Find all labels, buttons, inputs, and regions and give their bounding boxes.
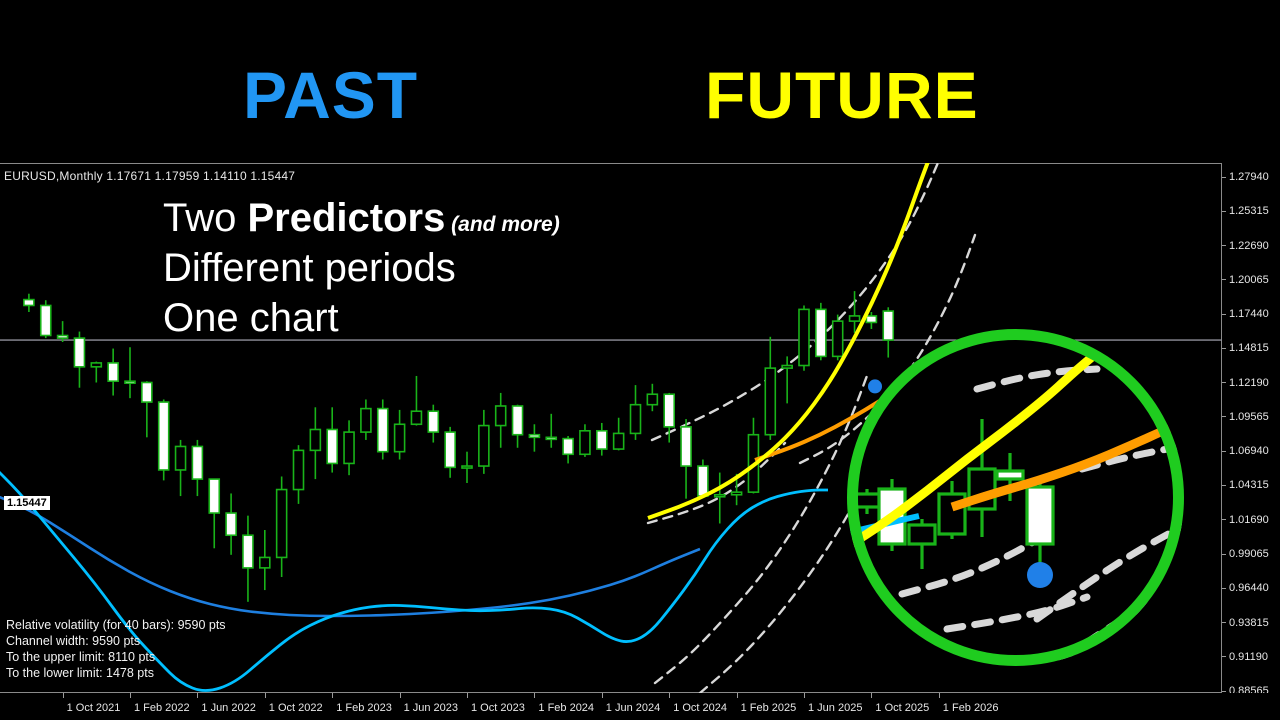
price-tick-mark (1222, 314, 1226, 315)
time-tick-mark (804, 693, 805, 698)
time-tick-label: 1 Oct 2025 (875, 702, 929, 714)
candlestick (192, 440, 202, 496)
price-tick-text: 1.22690 (1229, 240, 1269, 252)
magnified-predictor-2 (952, 421, 1184, 507)
time-tick-label: 1 Jun 2022 (201, 702, 255, 714)
headline-overlay: Two Predictors (and more) Different peri… (163, 198, 560, 348)
headline-line-1: Two Predictors (and more) (163, 198, 560, 238)
magnified-forecast-dot (1027, 562, 1053, 588)
time-tick-mark (737, 693, 738, 698)
headline-line-2: Different periods (163, 248, 560, 288)
time-tick-label: 1 Oct 2021 (67, 702, 121, 714)
info-line-channel-width: Channel width: 9590 pts (6, 634, 226, 650)
price-tick-text: 1.09565 (1229, 411, 1269, 423)
price-tick-text: 0.96440 (1229, 582, 1269, 594)
banner: PAST FUTURE (0, 0, 1280, 163)
price-tick-label: 1.25315 (1222, 205, 1269, 217)
candlestick (462, 452, 472, 483)
time-tick-mark (534, 693, 535, 698)
candlestick (597, 423, 607, 456)
headline-bold-word: Predictors (247, 196, 445, 240)
candlestick (647, 384, 657, 411)
time-tick-mark (669, 693, 670, 698)
candlestick (378, 399, 388, 459)
price-tick-label: 0.99065 (1222, 548, 1269, 560)
candlestick (74, 332, 84, 388)
candlestick (529, 424, 539, 451)
candlestick (546, 414, 556, 448)
candlestick (580, 424, 590, 457)
time-tick-mark (400, 693, 401, 698)
time-scale[interactable]: 1 Oct 20211 Feb 20221 Jun 20221 Oct 2022… (0, 693, 1280, 720)
price-tick-text: 1.04315 (1229, 479, 1269, 491)
time-tick-mark (939, 693, 940, 698)
candlestick (91, 362, 101, 383)
candlestick (24, 294, 34, 312)
candlestick (479, 410, 489, 474)
forecast-dot (868, 379, 882, 393)
info-panel: Relative volatility (for 40 bars): 9590 … (6, 618, 226, 682)
time-tick-label: 1 Jun 2023 (404, 702, 458, 714)
magnified-candlestick (854, 489, 880, 514)
time-tick-mark (871, 693, 872, 698)
candlestick (664, 393, 674, 443)
time-tick-mark (467, 693, 468, 698)
price-tick-text: 0.99065 (1229, 548, 1269, 560)
price-tick-label: 0.91190 (1222, 651, 1268, 663)
candlestick (58, 321, 68, 342)
candlestick (411, 376, 421, 426)
price-tick-mark (1222, 485, 1226, 486)
price-tick-label: 1.09565 (1222, 411, 1269, 423)
price-tick-label: 1.04315 (1222, 479, 1269, 491)
price-tick-label: 1.12190 (1222, 377, 1269, 389)
candlestick (513, 405, 523, 448)
price-tick-text: 1.14815 (1229, 342, 1269, 354)
price-scale[interactable]: 1.279401.253151.226901.200651.174401.148… (1222, 163, 1280, 693)
candlestick (209, 479, 219, 548)
candlestick (428, 405, 438, 443)
magnifier-lens (847, 329, 1184, 666)
candlestick (445, 427, 455, 478)
symbol-info-label: EURUSD,Monthly 1.17671 1.17959 1.14110 1… (4, 169, 295, 183)
magnifier-graphics (847, 329, 1184, 666)
info-line-upper-limit: To the upper limit: 8110 pts (6, 650, 226, 666)
price-tick-label: 0.96440 (1222, 582, 1269, 594)
candlestick (277, 476, 287, 577)
magnified-candlestick (909, 519, 935, 569)
price-tick-text: 1.12190 (1229, 377, 1269, 389)
price-tick-text: 1.17440 (1229, 308, 1269, 320)
candlestick (563, 436, 573, 463)
time-tick-label: 1 Feb 2023 (336, 702, 392, 714)
candlestick (243, 516, 253, 602)
candlestick (108, 349, 118, 396)
time-tick-label: 1 Oct 2022 (269, 702, 323, 714)
magnified-candlestick (939, 481, 965, 539)
candlestick (294, 445, 304, 504)
price-tick-mark (1222, 622, 1226, 623)
candlestick (614, 418, 624, 451)
price-tick-mark (1222, 177, 1226, 178)
price-tick-text: 0.93815 (1229, 617, 1269, 629)
time-tick-label: 1 Feb 2024 (538, 702, 594, 714)
price-tick-mark (1222, 382, 1226, 383)
price-tick-mark (1222, 656, 1226, 657)
price-tick-text: 1.01690 (1229, 514, 1269, 526)
time-tick-label: 1 Feb 2022 (134, 702, 190, 714)
price-tick-mark (1222, 691, 1226, 692)
time-tick-label: 1 Feb 2026 (943, 702, 999, 714)
candlestick (310, 407, 320, 479)
headline-prefix: Two (163, 196, 247, 240)
candlestick (125, 347, 135, 398)
time-tick-label: 1 Jun 2024 (606, 702, 660, 714)
info-line-volatility: Relative volatility (for 40 bars): 9590 … (6, 618, 226, 634)
price-tick-mark (1222, 348, 1226, 349)
candlestick (681, 419, 691, 499)
forecast-marker (868, 379, 882, 393)
headline-line-3: One chart (163, 298, 560, 338)
candlestick (833, 315, 843, 361)
price-tick-text: 1.06940 (1229, 445, 1269, 457)
price-tick-label: 1.01690 (1222, 514, 1269, 526)
candlestick (496, 393, 506, 448)
candlestick (344, 420, 354, 475)
price-tick-label: 1.17440 (1222, 308, 1269, 320)
time-tick-mark (332, 693, 333, 698)
channel-dashed-path (655, 373, 868, 683)
candlestick (159, 399, 169, 480)
candlestick (226, 493, 236, 554)
time-tick-mark (130, 693, 131, 698)
price-tick-label: 0.93815 (1222, 617, 1269, 629)
price-tick-text: 1.20065 (1229, 274, 1269, 286)
price-tick-label: 1.27940 (1222, 171, 1269, 183)
price-tick-mark (1222, 451, 1226, 452)
time-tick-mark (197, 693, 198, 698)
candlestick (361, 399, 371, 439)
candlestick (631, 385, 641, 440)
candlestick (142, 381, 152, 437)
time-tick-label: 1 Oct 2024 (673, 702, 727, 714)
candlestick (765, 337, 775, 440)
price-tick-text: 0.91190 (1229, 651, 1268, 663)
candlestick (395, 410, 405, 460)
price-tick-text: 1.25315 (1229, 205, 1269, 217)
candlestick (260, 530, 270, 590)
candlestick (799, 305, 809, 370)
price-tick-mark (1222, 416, 1226, 417)
time-tick-mark (63, 693, 64, 698)
candlestick (748, 418, 758, 494)
price-tick-mark (1222, 211, 1226, 212)
candlestick (816, 303, 826, 360)
price-tick-mark (1222, 588, 1226, 589)
price-tick-label: 1.14815 (1222, 342, 1269, 354)
price-tick-label: 1.06940 (1222, 445, 1269, 457)
past-title: PAST (243, 62, 418, 128)
price-tick-mark (1222, 245, 1226, 246)
current-price-badge: 1.15447 (4, 496, 50, 510)
time-tick-label: 1 Oct 2023 (471, 702, 525, 714)
candlestick (176, 440, 186, 496)
price-tick-mark (1222, 554, 1226, 555)
price-tick-text: 1.27940 (1229, 171, 1269, 183)
headline-note: (and more) (445, 213, 559, 236)
candlestick (883, 307, 893, 357)
price-tick-label: 1.20065 (1222, 274, 1269, 286)
price-tick-mark (1222, 519, 1226, 520)
time-tick-mark (602, 693, 603, 698)
info-line-lower-limit: To the lower limit: 1478 pts (6, 666, 226, 682)
candlestick (698, 460, 708, 498)
time-tick-mark (265, 693, 266, 698)
price-tick-label: 1.22690 (1222, 240, 1269, 252)
price-tick-mark (1222, 279, 1226, 280)
time-tick-label: 1 Feb 2025 (741, 702, 797, 714)
time-tick-label: 1 Jun 2025 (808, 702, 862, 714)
future-title: FUTURE (705, 62, 979, 128)
candlestick (327, 407, 337, 472)
candlestick (782, 356, 792, 403)
magnified-channel-path (947, 597, 1087, 629)
candlestick (41, 300, 51, 338)
